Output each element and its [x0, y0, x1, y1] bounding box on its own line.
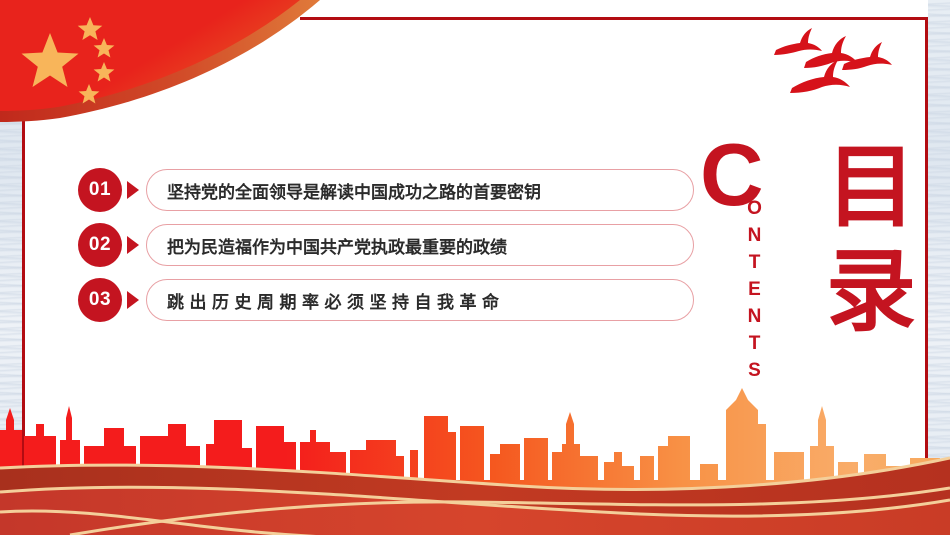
item-pill[interactable]: 坚持党的全面领导是解读中国成功之路的首要密钥	[146, 169, 694, 211]
contents-wordmark: C ONTENTS	[700, 140, 790, 355]
page-title-cn-text: 目录	[826, 136, 910, 344]
arrow-right-icon	[127, 236, 139, 254]
item-label: 把为民造福作为中国共产党执政最重要的政绩	[167, 233, 507, 258]
doves-decoration	[762, 22, 892, 102]
arrow-right-icon	[127, 291, 139, 309]
contents-item-03[interactable]: 03 跳出历史周期率必须坚持自我革命	[78, 278, 698, 322]
dove-1-icon	[774, 28, 822, 55]
contents-list: 01 坚持党的全面领导是解读中国成功之路的首要密钥 02 把为民造福作为中国共产…	[78, 168, 698, 333]
item-number-badge: 03	[78, 278, 122, 322]
page-title-cn: 目录	[826, 136, 910, 344]
contents-item-02[interactable]: 02 把为民造福作为中国共产党执政最重要的政绩	[78, 223, 698, 267]
contents-vertical-text: ONTENTS	[743, 198, 765, 387]
item-number-badge: 01	[78, 168, 122, 212]
item-pill[interactable]: 跳出历史周期率必须坚持自我革命	[146, 279, 694, 321]
bottom-decoration	[0, 380, 950, 535]
item-pill[interactable]: 把为民造福作为中国共产党执政最重要的政绩	[146, 224, 694, 266]
arrow-right-icon	[127, 181, 139, 199]
item-label: 坚持党的全面领导是解读中国成功之路的首要密钥	[167, 178, 541, 203]
item-label: 跳出历史周期率必须坚持自我革命	[167, 288, 505, 313]
slide-canvas: 01 坚持党的全面领导是解读中国成功之路的首要密钥 02 把为民造福作为中国共产…	[0, 0, 950, 535]
item-number-badge: 02	[78, 223, 122, 267]
contents-item-01[interactable]: 01 坚持党的全面领导是解读中国成功之路的首要密钥	[78, 168, 698, 212]
